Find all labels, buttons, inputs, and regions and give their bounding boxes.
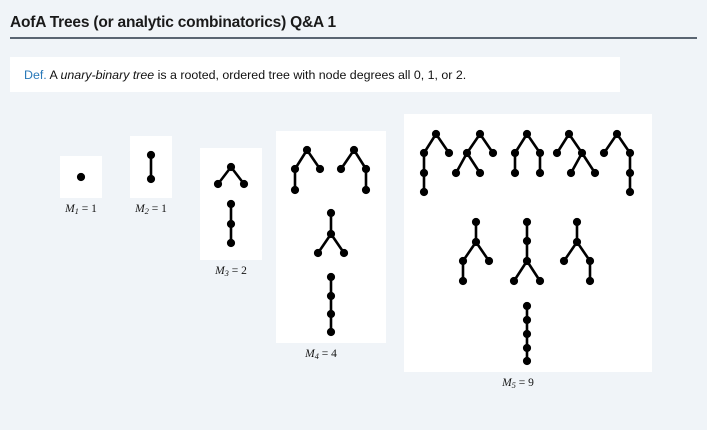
tree-node [452, 169, 460, 177]
tree-node [523, 357, 531, 365]
tree-node [472, 218, 480, 226]
tree-panel-M4 [276, 131, 386, 343]
tree-node [536, 149, 544, 157]
tree-node [362, 165, 370, 173]
tree-node [511, 149, 519, 157]
tree-drawing-M5 [404, 114, 652, 372]
tree-node [362, 186, 370, 194]
tree-node [626, 169, 634, 177]
tree-node [565, 130, 573, 138]
tree-node [214, 180, 222, 188]
tree-node [573, 218, 581, 226]
tree-five-node-path [523, 302, 531, 365]
tree-binary-both-unary [511, 130, 544, 177]
tree-panel-M3 [200, 148, 262, 260]
tree-node [536, 169, 544, 177]
tree-node [327, 230, 335, 238]
tree-node [476, 130, 484, 138]
tree-node [227, 163, 235, 171]
tree-node [536, 277, 544, 285]
tree-node [227, 200, 235, 208]
tree-node [420, 188, 428, 196]
tree-node [327, 209, 335, 217]
tree-node [523, 237, 531, 245]
tree-group-M5: M5 = 9 [404, 114, 632, 390]
tree-node [420, 169, 428, 177]
tree-node [523, 344, 531, 352]
tree-node [511, 169, 519, 177]
tree-group-M4: M4 = 4 [276, 131, 366, 361]
definition-box: Def. A unary-binary tree is a rooted, or… [10, 57, 620, 92]
tree-node [523, 130, 531, 138]
tree-node [337, 165, 345, 173]
definition-keyword: Def. [24, 68, 47, 82]
tree-group-M2: M2 = 1 [108, 136, 194, 216]
tree-node [567, 169, 575, 177]
tree-binary-right-unary [337, 146, 370, 194]
tree-unary-root-binary [314, 209, 348, 257]
tree-node [463, 149, 471, 157]
tree-unary-chain-then-binary [510, 218, 544, 285]
definition-rest: is a rooted, ordered tree with node degr… [154, 68, 466, 82]
tree-node [600, 149, 608, 157]
tree-drawing-M4 [276, 131, 386, 343]
tree-node [350, 146, 358, 154]
tree-node [340, 249, 348, 257]
definition-lead: A [47, 68, 61, 82]
tree-node [626, 149, 634, 157]
tree-node [459, 277, 467, 285]
tree-node [316, 165, 324, 173]
tree-node [327, 310, 335, 318]
tree-group-M3: M3 = 2 [192, 148, 270, 278]
tree-node [578, 149, 586, 157]
tree-node [327, 292, 335, 300]
tree-node [523, 257, 531, 265]
tree-node [147, 175, 155, 183]
tree-node [227, 220, 235, 228]
tree-node [489, 149, 497, 157]
tree-node [591, 169, 599, 177]
tree-node [523, 302, 531, 310]
tree-node [291, 186, 299, 194]
tree-node [227, 239, 235, 247]
tree-node [573, 238, 581, 246]
tree-group-label-M4: M4 = 4 [276, 348, 366, 361]
tree-panel-M5 [404, 114, 652, 372]
tree-node [314, 249, 322, 257]
tree-single-node [77, 173, 85, 181]
definition-text: Def. A unary-binary tree is a rooted, or… [24, 68, 466, 82]
tree-node [303, 146, 311, 154]
tree-group-label-M5: M5 = 9 [404, 377, 632, 390]
tree-node [476, 169, 484, 177]
tree-figure-area: M1 = 1 M2 = 1 M3 = 2 M4 = 4 M5 = 9 [0, 100, 707, 390]
tree-node [586, 257, 594, 265]
tree-node [560, 257, 568, 265]
tree-drawing-M1 [60, 156, 102, 198]
tree-unary-root-binary-left-unary [459, 218, 493, 285]
tree-binary-right-unary-chain [600, 130, 634, 196]
tree-binary-root [214, 163, 248, 188]
tree-drawing-M3 [200, 148, 262, 260]
tree-binary-left-binary [452, 130, 497, 177]
tree-node [510, 277, 518, 285]
tree-node [240, 180, 248, 188]
tree-node [445, 149, 453, 157]
tree-drawing-M2 [130, 136, 172, 198]
tree-node [553, 149, 561, 157]
tree-two-node-path [147, 151, 155, 183]
slide-header: AofA Trees (or analytic combinatorics) Q… [10, 14, 697, 39]
tree-group-label-M2: M2 = 1 [108, 203, 194, 216]
tree-panel-M2 [130, 136, 172, 198]
definition-term: unary-binary tree [61, 68, 155, 82]
tree-node [485, 257, 493, 265]
tree-binary-right-binary [553, 130, 599, 177]
tree-node [472, 238, 480, 246]
tree-node [147, 151, 155, 159]
tree-unary-root-binary-right-unary [560, 218, 594, 285]
tree-node [291, 165, 299, 173]
tree-node [586, 277, 594, 285]
tree-node [432, 130, 440, 138]
tree-node [523, 316, 531, 324]
tree-binary-left-unary [291, 146, 324, 194]
tree-node [77, 173, 85, 181]
tree-node [523, 330, 531, 338]
tree-group-label-M3: M3 = 2 [192, 265, 270, 278]
tree-node [327, 328, 335, 336]
tree-node [613, 130, 621, 138]
tree-panel-M1 [60, 156, 102, 198]
tree-node [523, 218, 531, 226]
tree-node [626, 188, 634, 196]
tree-binary-left-unary-chain [420, 130, 453, 196]
tree-node [459, 257, 467, 265]
page-title: AofA Trees (or analytic combinatorics) Q… [10, 14, 697, 32]
title-divider [10, 37, 697, 39]
tree-four-node-path [327, 273, 335, 336]
tree-three-node-path [227, 200, 235, 247]
tree-node [327, 273, 335, 281]
tree-node [420, 149, 428, 157]
